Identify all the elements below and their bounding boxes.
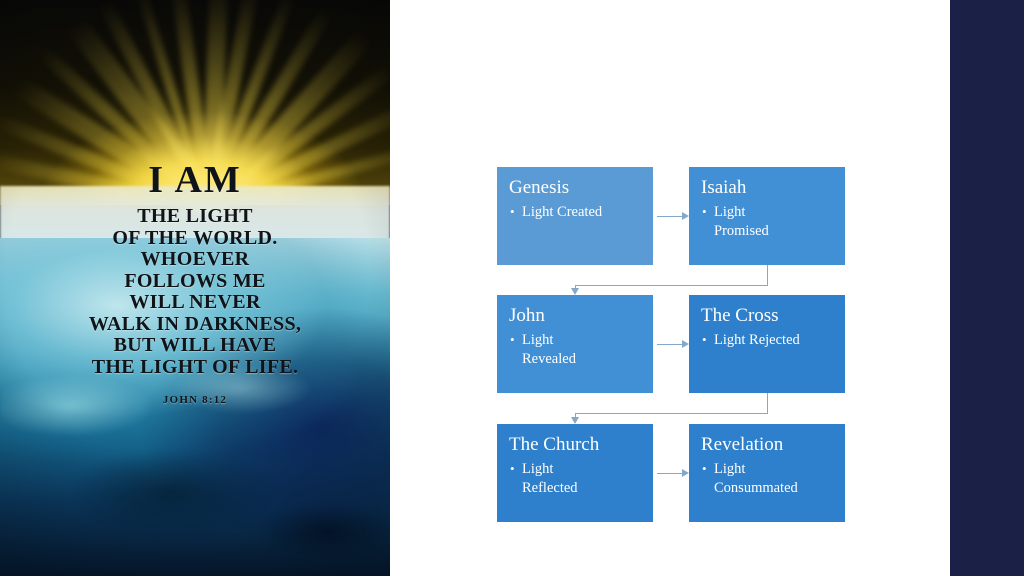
connector-cross-church-arrowhead — [571, 417, 579, 424]
flow-node-genesis[interactable]: Genesis Light Created — [497, 167, 653, 265]
connector-isaiah-john-v1 — [767, 265, 768, 286]
flow-node-title: Revelation — [701, 432, 835, 458]
verse-line: OF THE WORLD. — [0, 228, 390, 250]
flow-node-bullets: Light Consummated — [701, 460, 835, 498]
verse-heading: I AM — [0, 158, 390, 202]
flow-node-isaiah[interactable]: Isaiah Light Promised — [689, 167, 845, 265]
flow-node-title: Genesis — [509, 175, 643, 201]
flow-node-bullet: Light Consummated — [701, 460, 835, 498]
flow-node-john[interactable]: John Light Revealed — [497, 295, 653, 393]
verse-line: THE LIGHT OF LIFE. — [0, 357, 390, 379]
flow-node-the-cross[interactable]: The Cross Light Rejected — [689, 295, 845, 393]
verse-reference: JOHN 8:12 — [0, 394, 390, 406]
flow-node-title: The Church — [509, 432, 643, 458]
verse-line: THE LIGHT — [0, 206, 390, 228]
connector-isaiah-john-arrowhead — [571, 288, 579, 295]
flow-node-bullet: Light Rejected — [701, 331, 835, 350]
flow-node-bullets: Light Rejected — [701, 331, 835, 350]
flow-node-bullet: Light Revealed — [509, 331, 643, 369]
connector-church-revelation-line — [657, 473, 683, 474]
flow-node-title: The Cross — [701, 303, 835, 329]
scripture-image: I AM THE LIGHT OF THE WORLD. WHOEVER FOL… — [0, 0, 390, 576]
verse-line: WHOEVER — [0, 249, 390, 271]
flow-node-title: Isaiah — [701, 175, 835, 201]
connector-church-revelation-arrowhead — [682, 469, 689, 477]
slide-canvas: I AM THE LIGHT OF THE WORLD. WHOEVER FOL… — [0, 0, 1024, 576]
flow-node-bullet: Light Reflected — [509, 460, 643, 498]
right-edge-band — [950, 0, 1024, 576]
connector-genesis-isaiah-arrowhead — [682, 212, 689, 220]
flow-node-revelation[interactable]: Revelation Light Consummated — [689, 424, 845, 522]
flow-node-bullets: Light Created — [509, 203, 643, 222]
flow-node-bullets: Light Reflected — [509, 460, 643, 498]
connector-john-cross-line — [657, 344, 683, 345]
flow-node-bullets: Light Revealed — [509, 331, 643, 369]
verse-line: FOLLOWS ME — [0, 271, 390, 293]
flow-node-the-church[interactable]: The Church Light Reflected — [497, 424, 653, 522]
flow-node-bullets: Light Promised — [701, 203, 835, 241]
verse-line: WILL NEVER — [0, 292, 390, 314]
connector-genesis-isaiah-line — [657, 216, 683, 217]
verse-line: WALK IN DARKNESS, — [0, 314, 390, 336]
connector-cross-church-v1 — [767, 393, 768, 414]
process-flow-diagram: Genesis Light Created Isaiah Light Promi… — [497, 167, 845, 522]
verse-lines: THE LIGHT OF THE WORLD. WHOEVER FOLLOWS … — [0, 206, 390, 378]
verse-line: BUT WILL HAVE — [0, 335, 390, 357]
connector-cross-church-h — [575, 413, 768, 414]
flow-node-bullet: Light Created — [509, 203, 643, 222]
verse-text-block: I AM THE LIGHT OF THE WORLD. WHOEVER FOL… — [0, 158, 390, 406]
flow-node-title: John — [509, 303, 643, 329]
connector-john-cross-arrowhead — [682, 340, 689, 348]
flow-node-bullet: Light Promised — [701, 203, 835, 241]
connector-isaiah-john-h — [575, 285, 768, 286]
